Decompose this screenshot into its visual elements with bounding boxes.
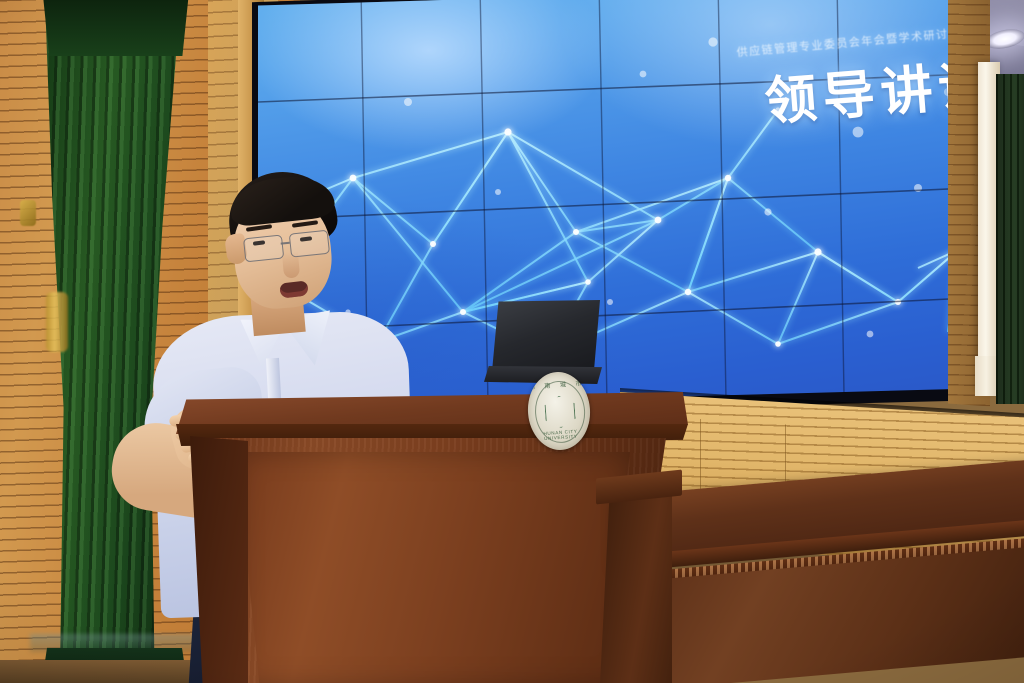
presentation-photo: 领导讲话 喻 志 松 湖南省教育厅二级巡视员 供应链管理专业委员会年会暨学术研讨… [0, 0, 1024, 683]
table-left-post [600, 484, 672, 683]
speaker-nose [282, 251, 300, 278]
screen-title-block: 领导讲话 喻 志 松 湖南省教育厅二级巡视员 [763, 44, 970, 256]
curtain-right [996, 74, 1024, 404]
curtain-tieback [46, 292, 68, 352]
glasses-bridge [281, 242, 290, 245]
curtain-hook-icon [20, 200, 36, 226]
lens-left [243, 234, 284, 262]
curtain-left-header [24, 0, 204, 56]
podium-front-panel [236, 452, 630, 683]
laptop-screen [492, 300, 600, 376]
conference-table-front [628, 546, 1024, 683]
